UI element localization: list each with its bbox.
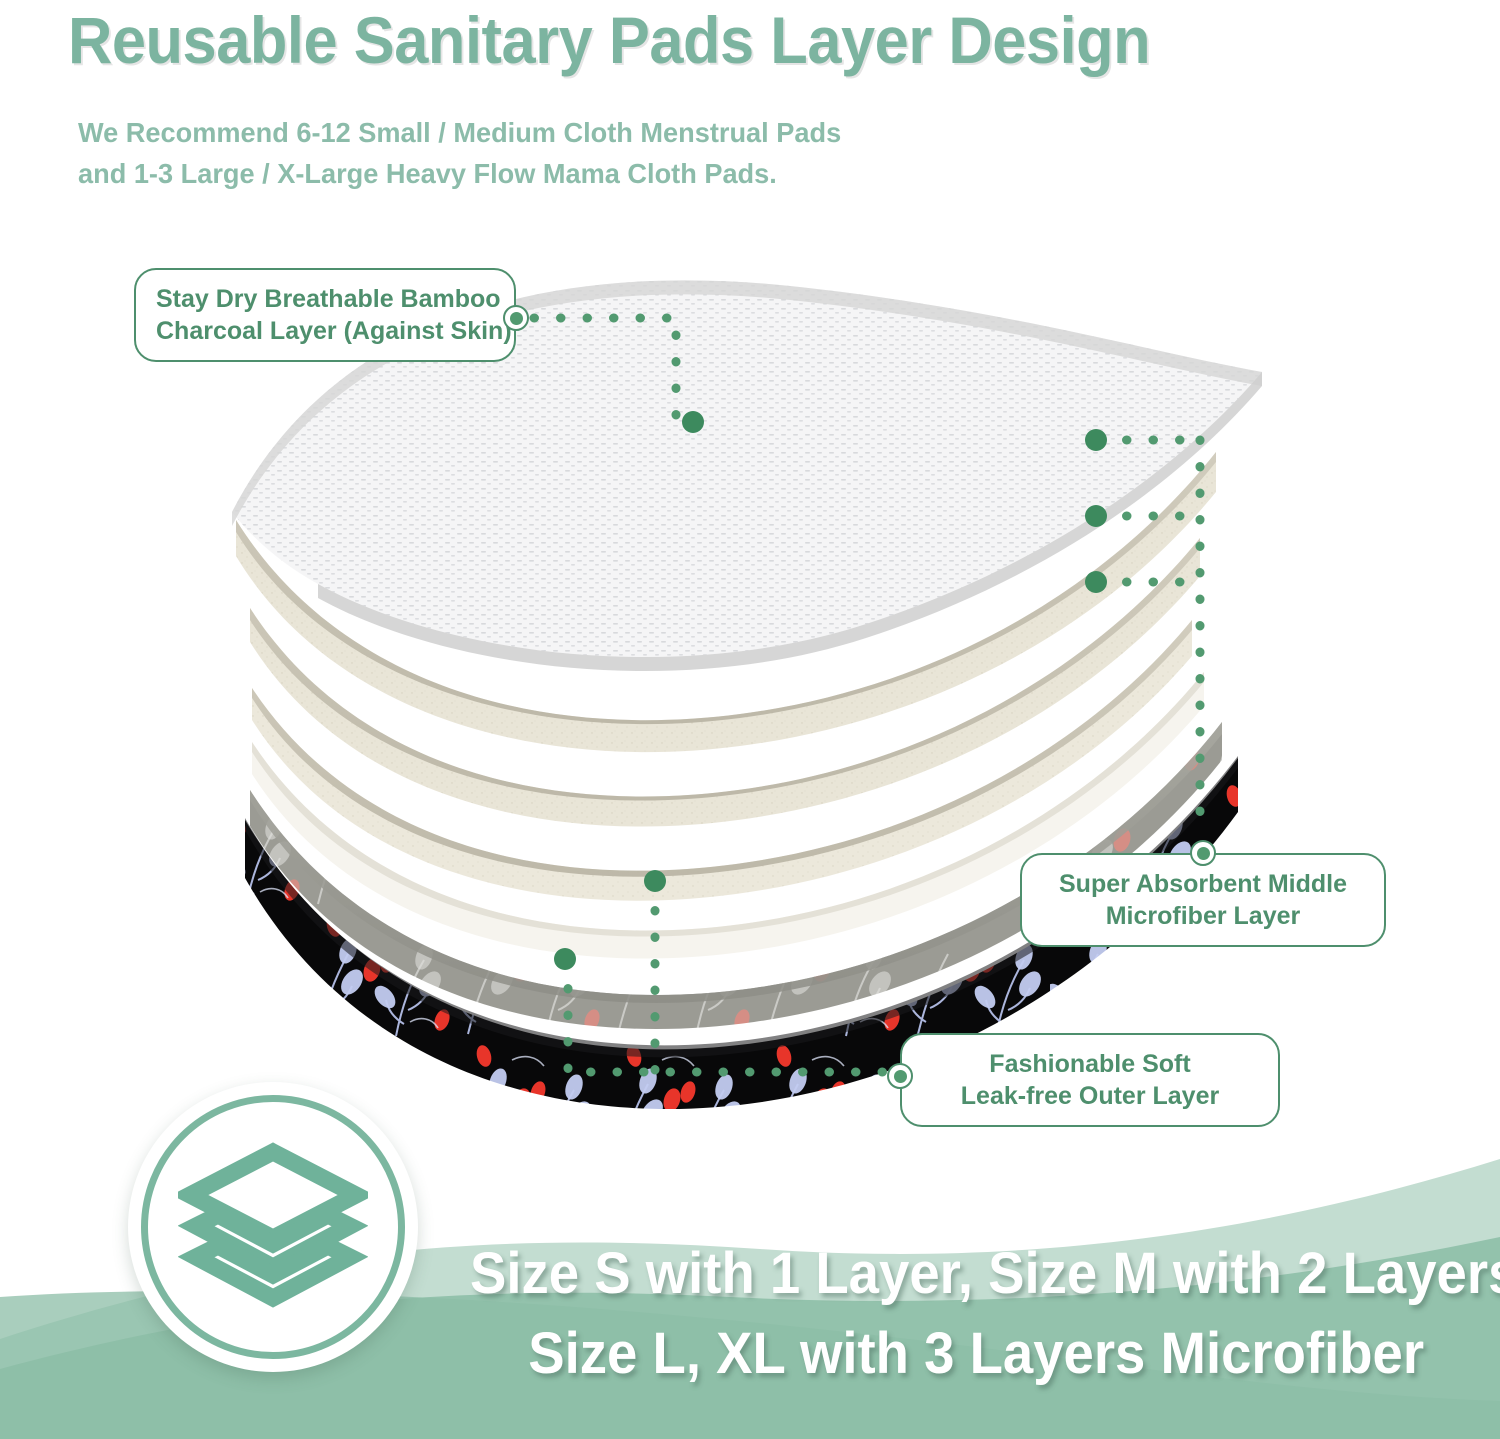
callout-top-anchor-knob: [503, 305, 529, 331]
page-title: Reusable Sanitary Pads Layer Design: [68, 2, 1277, 78]
callout-super-absorbent-layer: Super Absorbent Middle Microfiber Layer: [1020, 853, 1386, 947]
bottom-banner-text: Size S with 1 Layer, Size M with 2 Layer…: [470, 1234, 1419, 1394]
callout-leak-free-outer-layer: Fashionable Soft Leak-free Outer Layer: [900, 1033, 1280, 1127]
callout-bamboo-charcoal-layer: Stay Dry Breathable Bamboo Charcoal Laye…: [134, 268, 516, 362]
layers-stack-icon: [178, 1140, 368, 1315]
page-subtitle: We Recommend 6-12 Small / Medium Cloth M…: [78, 113, 1048, 194]
callout-mid-line1: Super Absorbent Middle: [1042, 868, 1364, 900]
banner-line-1: Size S with 1 Layer, Size M with 2 Layer…: [470, 1234, 1419, 1314]
callout-top-line1: Stay Dry Breathable Bamboo: [156, 283, 494, 315]
callout-bottom-anchor-knob: [887, 1063, 913, 1089]
layers-badge: [128, 1082, 418, 1372]
callout-bottom-line1: Fashionable Soft: [922, 1048, 1258, 1080]
callout-top-line2: Charcoal Layer (Against Skin): [156, 315, 494, 347]
subtitle-line-2: and 1-3 Large / X-Large Heavy Flow Mama …: [78, 154, 1048, 195]
callout-mid-line2: Microfiber Layer: [1042, 900, 1364, 932]
subtitle-line-1: We Recommend 6-12 Small / Medium Cloth M…: [78, 113, 1048, 154]
callout-mid-anchor-knob: [1190, 840, 1216, 866]
infographic-page: Stay Dry Breathable Bamboo Charcoal Laye…: [0, 0, 1500, 1439]
callout-bottom-line2: Leak-free Outer Layer: [922, 1080, 1258, 1112]
banner-line-2: Size L, XL with 3 Layers Microfiber: [470, 1314, 1419, 1394]
